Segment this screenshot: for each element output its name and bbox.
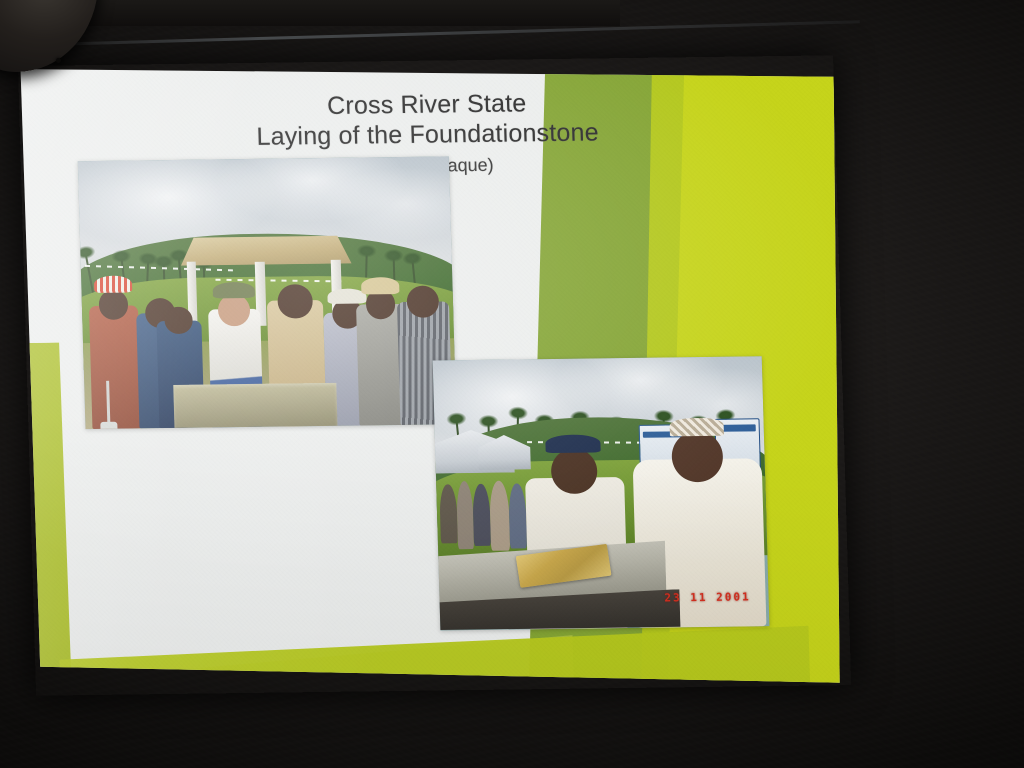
projection-scene: Cross River State Laying of the Foundati… (0, 0, 1024, 768)
person-cap (93, 276, 132, 294)
person-cap (669, 417, 723, 436)
photo-plaque-unveiling[interactable]: 23 11 2001 (433, 356, 770, 630)
person-head (165, 307, 193, 335)
ceiling-fixture-screw-icon (56, 58, 61, 63)
person-head (277, 284, 312, 319)
person-head (551, 448, 598, 494)
person-head (98, 289, 129, 319)
photo-ceremony-content (78, 156, 457, 429)
photo-datestamp: 23 11 2001 (664, 590, 751, 604)
presentation-slide[interactable]: Cross River State Laying of the Foundati… (18, 55, 851, 695)
pavilion-roof (180, 235, 351, 265)
photo-ceremony-group[interactable] (78, 156, 457, 429)
person-figure (89, 305, 141, 429)
accent-wedge-bottom-pale (83, 635, 574, 696)
slide-title-line-2: Laying of the Foundationstone (158, 117, 697, 155)
person-head (671, 431, 724, 483)
accent-wedge-bottom (59, 626, 811, 696)
photo-plaque-content: 23 11 2001 (433, 356, 770, 630)
person-cap (545, 435, 601, 454)
person-hat (360, 277, 399, 294)
person-hat (213, 282, 255, 299)
signboard-header-bar (718, 424, 756, 431)
slide-canvas: Cross River State Laying of the Foundati… (18, 55, 851, 695)
person-head (407, 285, 440, 318)
foundation-stone (173, 383, 337, 428)
